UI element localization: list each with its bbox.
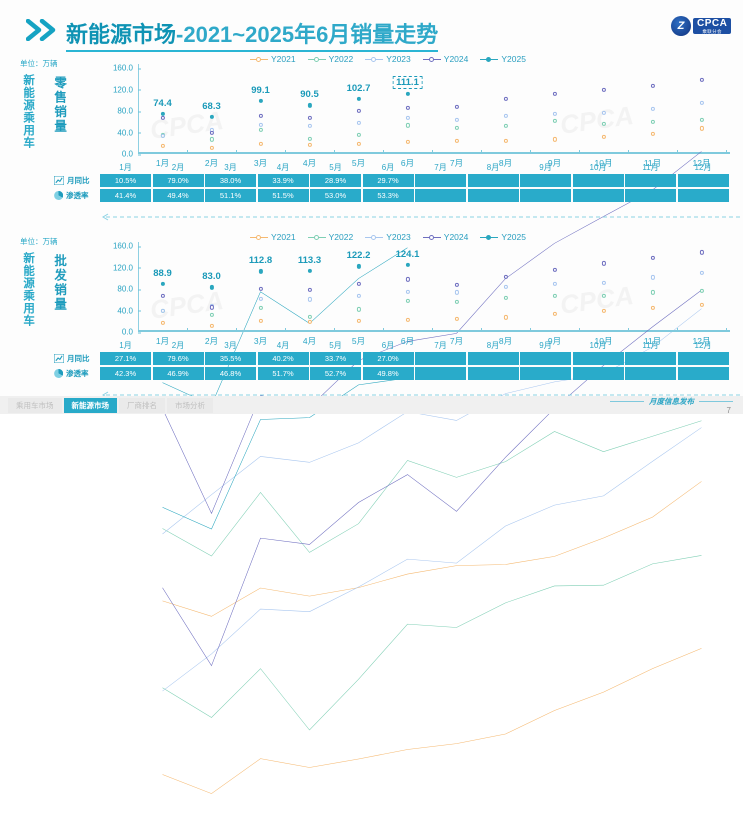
table-cell (415, 189, 466, 202)
legend-swatch (365, 237, 383, 238)
table-col-header: 8月 (468, 162, 519, 173)
legend-label: Y2025 (501, 54, 526, 64)
table-cell (415, 352, 466, 365)
y-tick-label: 0.0 (122, 150, 138, 159)
table-col-header: 12月 (678, 162, 729, 173)
table-col-header: 7月 (415, 162, 466, 173)
table-cell: 52.7% (310, 367, 361, 380)
data-table-retail: 1月2月3月4月5月6月7月8月9月10月11月12月月同比10.5%79.0%… (54, 174, 730, 222)
value-label-4月: 113.3 (298, 255, 321, 266)
chart-legend: Y2021Y2022Y2023Y2024Y2025 (250, 232, 526, 242)
table-cell: 41.4% (100, 189, 151, 202)
metric-label: 零售销量 (52, 76, 65, 134)
table-cell: 27.0% (363, 352, 414, 365)
pie-chart-icon (54, 191, 63, 200)
footer-tab-1[interactable]: 新能源市场 (64, 398, 118, 413)
legend-label: Y2021 (271, 54, 296, 64)
table-col-header: 8月 (468, 340, 519, 351)
value-label-3月: 99.1 (251, 85, 270, 96)
table-col-header: 10月 (573, 340, 624, 351)
legend-swatch (423, 59, 441, 60)
table-cell: 28.9% (310, 174, 361, 187)
legend-swatch (480, 59, 498, 60)
legend-label: Y2025 (501, 232, 526, 242)
slide: CPCA CPCA CPCA CPCA 新能源市场-2021~2025年6月销量… (0, 0, 743, 414)
table-row-label: 月同比 (54, 353, 100, 364)
table-row-label-text: 渗透率 (66, 190, 89, 201)
value-label-6月: 124.1 (396, 249, 420, 260)
legend-item-Y2021[interactable]: Y2021 (250, 232, 296, 242)
legend-label: Y2024 (444, 54, 469, 64)
table-col-header: 10月 (573, 162, 624, 173)
y-tick-label: 160.0 (113, 242, 138, 251)
table-cell (520, 174, 571, 187)
table-bottom-arrow-rule (100, 386, 743, 394)
panel-retail: 单位：万辆新能源乘用车零售销量Y2021Y2022Y2023Y2024Y2025… (8, 50, 735, 230)
double-chevron-right-icon (26, 19, 60, 41)
table-cell (415, 367, 466, 380)
cpca-logo: Z CPCA 乘联分会 (671, 15, 737, 37)
table-cell (678, 352, 729, 365)
legend-label: Y2024 (444, 232, 469, 242)
legend-label: Y2022 (329, 232, 354, 242)
value-label-3月: 112.8 (249, 255, 272, 266)
legend-swatch (250, 237, 268, 238)
table-cell: 10.5% (100, 174, 151, 187)
table-cell (520, 367, 571, 380)
footer-rule-left (610, 401, 644, 402)
legend-item-Y2025[interactable]: Y2025 (480, 54, 526, 64)
chart-axes: 0.040.080.0120.0160.01月2月3月4月5月6月7月8月9月1… (138, 246, 726, 332)
table-header-row: 1月2月3月4月5月6月7月8月9月10月11月12月 (100, 162, 729, 173)
table-row: 10.5%79.0%38.0%33.9%28.9%29.7% (100, 174, 729, 187)
panel-wholesale: 单位：万辆新能源乘用车批发销量Y2021Y2022Y2023Y2024Y2025… (8, 228, 735, 408)
table-col-header: 5月 (310, 162, 361, 173)
unit-label: 单位：万辆 (20, 58, 58, 69)
chart-axes: 0.040.080.0120.0160.01月2月3月4月5月6月7月8月9月1… (138, 68, 726, 154)
table-cell (573, 352, 624, 365)
page-title-range: -2021~2025年6月销量走势 (176, 22, 438, 47)
logo-sub: 乘联分会 (702, 30, 722, 35)
y-tick-label: 120.0 (113, 85, 138, 94)
legend-swatch (365, 59, 383, 60)
logo-text: CPCA 乘联分会 (693, 18, 731, 35)
series-line-Y2023 (163, 428, 702, 691)
legend-item-Y2021[interactable]: Y2021 (250, 54, 296, 64)
table-cell (468, 352, 519, 365)
table-cell: 33.7% (310, 352, 361, 365)
value-label-5月: 122.2 (347, 250, 371, 261)
table-col-header: 2月 (153, 162, 204, 173)
category-label: 新能源乘用车 (22, 252, 34, 327)
table-cell: 49.4% (153, 189, 204, 202)
table-col-header: 12月 (678, 340, 729, 351)
table-col-header: 6月 (363, 340, 414, 351)
title-bar: 新能源市场-2021~2025年6月销量走势 Z CPCA 乘联分会 (0, 8, 743, 42)
table-row-label-text: 月同比 (67, 175, 90, 186)
table-cell (520, 189, 571, 202)
trend-chart-icon (54, 176, 64, 185)
table-col-header: 3月 (205, 162, 256, 173)
table-cell (468, 174, 519, 187)
table-cell: 46.8% (205, 367, 256, 380)
table-cell: 38.0% (205, 174, 256, 187)
table-cell: 53.0% (310, 189, 361, 202)
footer-rule-right (699, 401, 733, 402)
table-cell: 51.1% (205, 189, 256, 202)
table-cell: 53.3% (363, 189, 414, 202)
value-label-4月: 90.5 (300, 89, 319, 100)
value-label-2月: 83.0 (202, 271, 221, 282)
table-cell: 33.9% (258, 174, 309, 187)
legend-item-Y2023[interactable]: Y2023 (365, 54, 411, 64)
chart-wholesale: Y2021Y2022Y2023Y2024Y20250.040.080.0120.… (100, 232, 730, 350)
table-col-header: 1月 (100, 340, 151, 351)
legend-label: Y2022 (329, 54, 354, 64)
table-cell (573, 189, 624, 202)
legend-label: Y2021 (271, 232, 296, 242)
footer-tab-3[interactable]: 市场分析 (167, 398, 213, 413)
footer-tabs[interactable]: 乘用车市场新能源市场厂商排名市场分析 (8, 398, 213, 413)
table-col-header: 5月 (310, 340, 361, 351)
chart-retail: Y2021Y2022Y2023Y2024Y20250.040.080.0120.… (100, 54, 730, 172)
legend-item-Y2022[interactable]: Y2022 (308, 232, 354, 242)
table-cell: 51.5% (258, 189, 309, 202)
legend-item-Y2024[interactable]: Y2024 (423, 232, 469, 242)
table-row-label-wrap: 渗透率 (54, 367, 100, 380)
table-cell: 79.6% (153, 352, 204, 365)
table-row-label: 渗透率 (54, 190, 100, 201)
table-col-header: 7月 (415, 340, 466, 351)
table-cell: 40.2% (258, 352, 309, 365)
trend-chart-icon (54, 354, 64, 363)
y-tick-label: 120.0 (113, 263, 138, 272)
table-cell: 79.0% (153, 174, 204, 187)
chart-series-layer (138, 246, 726, 828)
data-table-wholesale: 1月2月3月4月5月6月7月8月9月10月11月12月月同比27.1%79.6%… (54, 352, 730, 400)
table-cell (573, 367, 624, 380)
table-row-label: 月同比 (54, 175, 100, 186)
series-line-Y2021 (163, 648, 702, 793)
table-cell: 35.5% (205, 352, 256, 365)
value-label-1月: 74.4 (153, 98, 172, 109)
table-col-header: 9月 (520, 162, 571, 173)
table-cell (625, 174, 676, 187)
footer-tab-0[interactable]: 乘用车市场 (8, 398, 62, 413)
footer: 乘用车市场新能源市场厂商排名市场分析 月度信息发布 7 (0, 396, 743, 414)
table-col-header: 11月 (625, 162, 676, 173)
legend-swatch (308, 237, 326, 238)
category-label: 新能源乘用车 (22, 74, 34, 149)
table-cell (468, 189, 519, 202)
table-cell (468, 367, 519, 380)
x-tick-mark (726, 150, 727, 154)
footer-brand: 月度信息发布 (610, 396, 733, 407)
table-col-header: 9月 (520, 340, 571, 351)
table-header-row: 1月2月3月4月5月6月7月8月9月10月11月12月 (100, 340, 729, 351)
legend-swatch (480, 237, 498, 238)
table-cell (520, 352, 571, 365)
y-tick-label: 80.0 (117, 285, 138, 294)
table-bottom-arrow-rule (100, 208, 743, 216)
x-tick-mark (726, 328, 727, 332)
table-row-label-wrap: 渗透率 (54, 189, 100, 202)
y-tick-label: 40.0 (117, 128, 138, 137)
table-cell: 49.8% (363, 367, 414, 380)
footer-tab-2[interactable]: 厂商排名 (119, 398, 165, 413)
table-row-label-wrap: 月同比 (54, 174, 100, 187)
table-col-header: 4月 (258, 340, 309, 351)
logo-mark-letter: Z (678, 21, 685, 32)
unit-label: 单位：万辆 (20, 236, 58, 247)
legend-swatch (308, 59, 326, 60)
legend-label: Y2023 (386, 232, 411, 242)
logo-name: CPCA (697, 19, 727, 29)
legend-swatch (423, 237, 441, 238)
table-cell (625, 352, 676, 365)
table-cell (678, 189, 729, 202)
table-cell: 42.3% (100, 367, 151, 380)
y-tick-label: 0.0 (122, 328, 138, 337)
legend-item-Y2022[interactable]: Y2022 (308, 54, 354, 64)
table-col-header: 3月 (205, 340, 256, 351)
table-col-header: 2月 (153, 340, 204, 351)
table-cell (573, 174, 624, 187)
legend-item-Y2024[interactable]: Y2024 (423, 54, 469, 64)
y-tick-label: 160.0 (113, 64, 138, 73)
table-cell (415, 174, 466, 187)
page-title: 新能源市场-2021~2025年6月销量走势 (66, 17, 438, 52)
table-cell (678, 367, 729, 380)
metric-label: 批发销量 (52, 254, 65, 312)
legend-swatch (250, 59, 268, 60)
table-col-header: 1月 (100, 162, 151, 173)
value-label-2月: 68.3 (202, 101, 221, 112)
pie-chart-icon (54, 369, 63, 378)
table-col-header: 4月 (258, 162, 309, 173)
table-cell: 46.9% (153, 367, 204, 380)
table-cell: 51.7% (258, 367, 309, 380)
table-col-header: 11月 (625, 340, 676, 351)
value-label-6月: 111.1 (392, 76, 423, 89)
legend-label: Y2023 (386, 54, 411, 64)
table-cell: 27.1% (100, 352, 151, 365)
page-title-cn: 新能源市场 (66, 22, 176, 47)
table-cell (625, 367, 676, 380)
series-line-Y2022 (163, 555, 702, 730)
table-cell (678, 174, 729, 187)
table-row-label-text: 渗透率 (66, 368, 89, 379)
table-row: 42.3%46.9%46.8%51.7%52.7%49.8% (100, 367, 729, 380)
table-cell: 29.7% (363, 174, 414, 187)
logo-mark-icon: Z (671, 16, 691, 36)
table-row: 41.4%49.4%51.1%51.5%53.0%53.3% (100, 189, 729, 202)
value-label-1月: 88.9 (153, 268, 172, 279)
footer-brand-label: 月度信息发布 (649, 396, 694, 407)
y-tick-label: 80.0 (117, 107, 138, 116)
table-row-label: 渗透率 (54, 368, 100, 379)
table-row-label-wrap: 月同比 (54, 352, 100, 365)
table-cell (625, 189, 676, 202)
table-row-label-text: 月同比 (67, 353, 90, 364)
value-label-5月: 102.7 (347, 83, 371, 94)
y-tick-label: 40.0 (117, 306, 138, 315)
table-row: 27.1%79.6%35.5%40.2%33.7%27.0% (100, 352, 729, 365)
table-col-header: 6月 (363, 162, 414, 173)
legend-item-Y2023[interactable]: Y2023 (365, 232, 411, 242)
chart-legend: Y2021Y2022Y2023Y2024Y2025 (250, 54, 526, 64)
legend-item-Y2025[interactable]: Y2025 (480, 232, 526, 242)
